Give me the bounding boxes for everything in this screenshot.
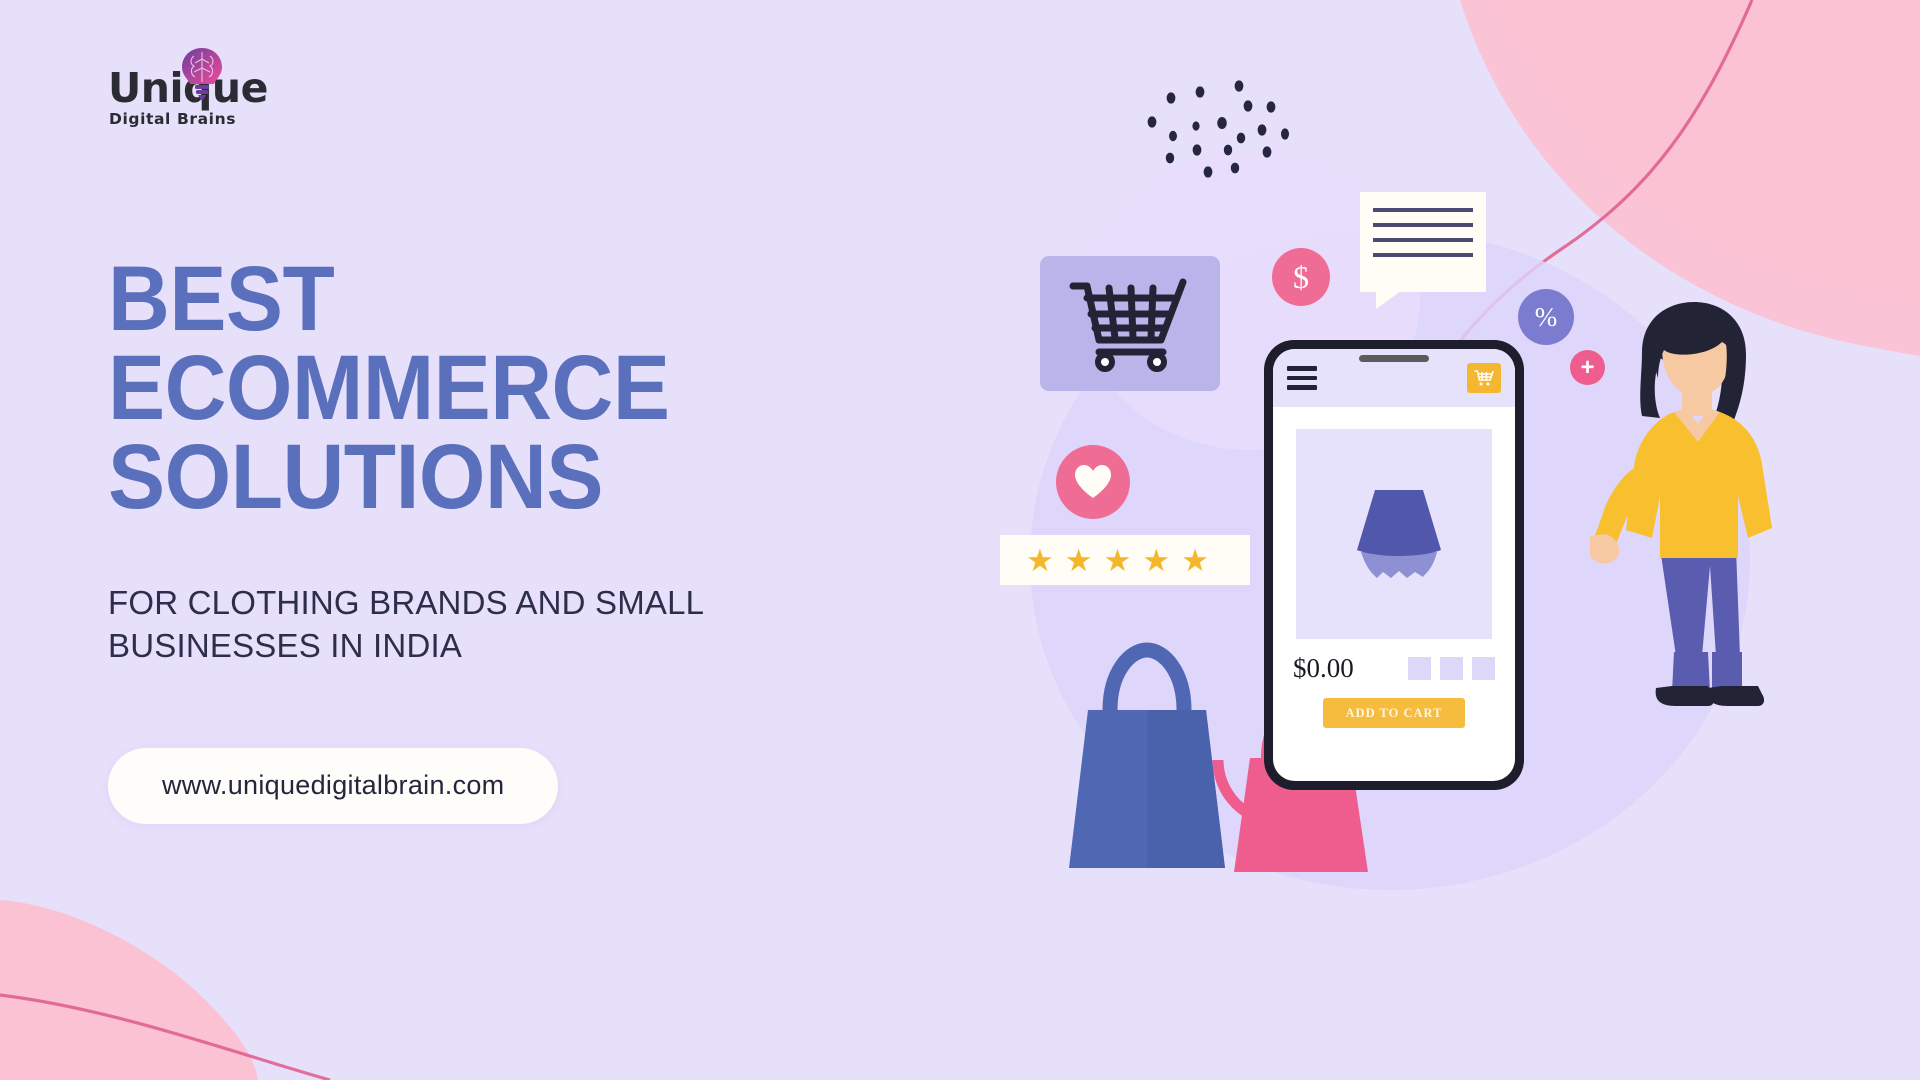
star-icon: ★ bbox=[1026, 545, 1054, 576]
swatch-option[interactable] bbox=[1472, 657, 1495, 680]
star-icon: ★ bbox=[1142, 545, 1170, 576]
phone-screen: $0.00 ADD TO CART bbox=[1273, 349, 1515, 781]
star-rating: ★ ★ ★ ★ ★ bbox=[1000, 535, 1250, 585]
phone-mockup: $0.00 ADD TO CART bbox=[1264, 340, 1524, 790]
star-icon: ★ bbox=[1181, 545, 1209, 576]
blue-shopping-bag-icon bbox=[1062, 636, 1232, 876]
dollar-badge: $ bbox=[1272, 248, 1330, 306]
swatch-option[interactable] bbox=[1408, 657, 1431, 680]
heart-icon bbox=[1073, 464, 1113, 500]
banner-stage: Unique Digital Brains BE bbox=[0, 0, 1920, 1080]
cart-button[interactable] bbox=[1467, 363, 1501, 393]
swatch-option[interactable] bbox=[1440, 657, 1463, 680]
phone-speaker bbox=[1359, 355, 1429, 362]
star-icon: ★ bbox=[1065, 545, 1093, 576]
hamburger-menu-icon[interactable] bbox=[1287, 366, 1317, 390]
color-swatches[interactable] bbox=[1408, 657, 1495, 680]
star-icon: ★ bbox=[1104, 545, 1132, 576]
shopping-cart-icon bbox=[1473, 368, 1495, 388]
app-topbar bbox=[1273, 349, 1515, 407]
add-to-cart-button[interactable]: ADD TO CART bbox=[1323, 698, 1465, 728]
hero-illustration: ★ ★ ★ ★ ★ $ % + bbox=[0, 0, 1920, 1080]
product-price: $0.00 bbox=[1293, 653, 1354, 684]
product-image[interactable] bbox=[1296, 429, 1492, 639]
shopping-cart-icon bbox=[1065, 274, 1195, 374]
heart-badge bbox=[1056, 445, 1130, 519]
percent-badge: % bbox=[1518, 289, 1574, 345]
purple-skirt-icon bbox=[1329, 474, 1459, 594]
speech-bubble-icon bbox=[1360, 192, 1486, 292]
decorative-dots-pattern bbox=[1140, 80, 1300, 180]
shopping-cart-tile bbox=[1040, 256, 1220, 391]
woman-illustration bbox=[1590, 300, 1820, 730]
price-row: $0.00 bbox=[1273, 639, 1515, 684]
